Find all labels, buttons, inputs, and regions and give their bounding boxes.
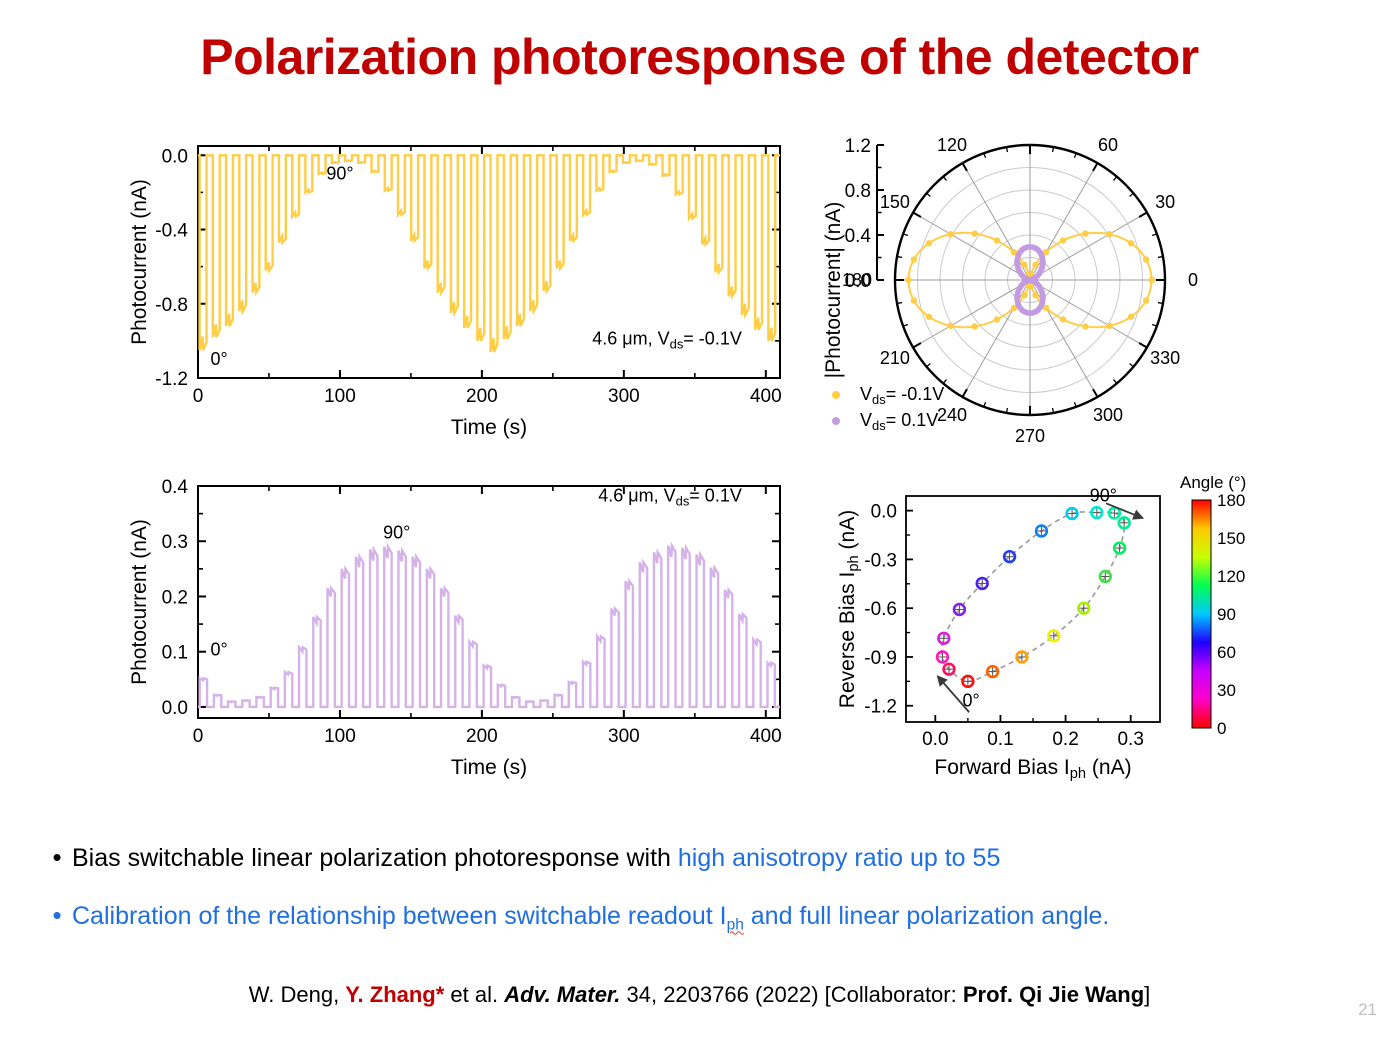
svg-text:-1.2: -1.2: [155, 369, 188, 390]
svg-text:Vds= 0.1V: Vds= 0.1V: [860, 410, 938, 433]
x-axis-label: Time (s): [451, 756, 527, 779]
svg-text:0.8: 0.8: [845, 181, 871, 202]
svg-text:330: 330: [1150, 348, 1180, 368]
svg-text:270: 270: [1015, 426, 1045, 446]
svg-text:90: 90: [1020, 132, 1040, 134]
bullet-2-subscript: ph: [727, 916, 744, 933]
svg-text:180: 180: [842, 270, 872, 290]
svg-text:100: 100: [324, 726, 356, 747]
svg-text:180: 180: [1217, 491, 1245, 510]
bullet-list: • Bias switchable linear polarization ph…: [42, 842, 1362, 967]
svg-text:0.1: 0.1: [987, 729, 1013, 750]
x-axis-tick-labels: 0100200300400: [193, 386, 782, 407]
annotation-bias: 4.6 μm, Vds= -0.1V: [592, 329, 742, 352]
svg-text:90: 90: [1217, 605, 1236, 624]
citation-author-highlight: Y. Zhang*: [345, 982, 444, 1007]
svg-text:100: 100: [324, 386, 356, 407]
svg-text:0.0: 0.0: [922, 729, 948, 750]
svg-text:0: 0: [1188, 270, 1198, 290]
colorbar-title: Angle (°): [1180, 473, 1246, 492]
svg-text:1.2: 1.2: [845, 136, 871, 157]
svg-text:210: 210: [880, 348, 910, 368]
svg-text:150: 150: [880, 192, 910, 212]
svg-text:Vds= -0.1V: Vds= -0.1V: [860, 384, 944, 407]
axes: [906, 496, 1160, 722]
svg-text:0: 0: [1217, 719, 1226, 738]
y-axis-tick-labels: 0.0-0.4-0.8-1.2: [155, 146, 188, 390]
bullet-text-1: Bias switchable linear polarization phot…: [72, 842, 1000, 874]
svg-text:0.3: 0.3: [1117, 729, 1143, 750]
svg-text:-0.8: -0.8: [155, 295, 188, 316]
photocurrent-trace: [198, 155, 780, 352]
annotation-0deg: 0°: [211, 640, 228, 660]
svg-text:0.0: 0.0: [162, 698, 188, 719]
svg-text:150: 150: [1217, 529, 1245, 548]
polar-legend: Vds= -0.1VVds= 0.1V: [832, 384, 944, 433]
bullet-marker-icon: •: [42, 842, 72, 872]
svg-text:200: 200: [466, 726, 498, 747]
colorbar: [1192, 500, 1211, 728]
svg-text:60: 60: [1217, 643, 1236, 662]
citation-part-3: 34, 2203766 (2022) [Collaborator:: [620, 982, 962, 1007]
svg-text:-0.6: -0.6: [864, 599, 897, 620]
annotation-90deg: 90°: [326, 163, 353, 183]
svg-text:0.1: 0.1: [162, 643, 188, 664]
bullet-item-1: • Bias switchable linear polarization ph…: [42, 842, 1362, 874]
annotation-0deg: 0°: [963, 691, 980, 711]
svg-text:300: 300: [608, 386, 640, 407]
slide-root: Polarization photoresponse of the detect…: [0, 0, 1399, 1039]
citation-part-1: W. Deng,: [249, 982, 346, 1007]
citation-journal: Adv. Mater.: [504, 982, 620, 1007]
y-axis-tick-labels: 0.0-0.3-0.6-0.9-1.2: [864, 502, 897, 718]
y-axis-tick-labels: 0.00.10.20.30.4: [162, 477, 189, 719]
y-axis-label: Photocurrent (nA): [128, 179, 151, 345]
svg-text:400: 400: [750, 386, 782, 407]
svg-text:240: 240: [937, 405, 967, 425]
x-axis-tick-labels: 0.00.10.20.3: [922, 729, 1144, 750]
citation-part-2: et al.: [444, 982, 504, 1007]
bullet-1-black: Bias switchable linear polarization phot…: [72, 844, 678, 872]
page-title: Polarization photoresponse of the detect…: [0, 28, 1399, 86]
svg-text:0.4: 0.4: [845, 226, 872, 247]
y-axis-label: Reverse Bias Iph (nA): [836, 510, 862, 708]
chart-polar: 0.00.40.81.2 030609012015018021024027030…: [820, 132, 1270, 452]
x-axis-label: Forward Bias Iph (nA): [934, 756, 1131, 782]
chart-bottom-right: 0.0-0.3-0.6-0.9-1.2 0.00.10.20.3 0° 90° …: [820, 472, 1290, 792]
colorbar-tick-labels: 0306090120150180: [1217, 491, 1245, 738]
svg-text:-0.3: -0.3: [864, 550, 897, 571]
bullet-2-lead: Calibration of the relationship between …: [72, 902, 727, 930]
annotation-90deg: 90°: [1090, 486, 1117, 506]
svg-text:0.0: 0.0: [162, 146, 188, 167]
svg-text:400: 400: [750, 726, 782, 747]
svg-text:300: 300: [608, 726, 640, 747]
svg-text:-0.9: -0.9: [864, 648, 897, 669]
x-axis-tick-labels: 0100200300400: [193, 726, 782, 747]
bullet-1-blue: high anisotropy ratio up to 55: [678, 844, 1000, 872]
svg-text:120: 120: [937, 135, 967, 155]
svg-text:0: 0: [193, 726, 204, 747]
svg-text:200: 200: [466, 386, 498, 407]
annotation-bias: 4.6 μm, Vds= 0.1V: [598, 485, 742, 508]
svg-text:60: 60: [1098, 135, 1118, 155]
citation-collaborator: Prof. Qi Jie Wang: [963, 982, 1144, 1007]
chart-bottom-right-svg: 0.0-0.3-0.6-0.9-1.2 0.00.10.20.3 0° 90° …: [820, 472, 1290, 792]
annotation-0deg: 0°: [211, 349, 228, 369]
y-axis-label: Photocurrent (nA): [128, 519, 151, 685]
chart-top-left: 0.0-0.4-0.8-1.2 0100200300400 0° 90° 4.6…: [120, 132, 800, 452]
annotation-90deg: 90°: [383, 522, 410, 542]
svg-text:30: 30: [1217, 681, 1236, 700]
loop-connector: [942, 512, 1125, 681]
svg-text:0: 0: [193, 386, 204, 407]
citation-footer: W. Deng, Y. Zhang* et al. Adv. Mater. 34…: [0, 982, 1399, 1008]
x-axis-label: Time (s): [451, 416, 527, 439]
bullet-marker-icon: •: [42, 900, 72, 930]
radial-axis: 0.00.40.81.2: [845, 136, 884, 292]
svg-text:300: 300: [1093, 405, 1123, 425]
svg-text:0.3: 0.3: [162, 532, 188, 553]
citation-part-4: ]: [1144, 982, 1150, 1007]
bullet-text-2: Calibration of the relationship between …: [72, 900, 1109, 941]
svg-text:0.2: 0.2: [162, 587, 188, 608]
svg-text:0.0: 0.0: [871, 502, 897, 523]
bullet-item-2: • Calibration of the relationship betwee…: [42, 900, 1362, 941]
svg-text:-0.4: -0.4: [155, 221, 188, 242]
page-number: 21: [1358, 1000, 1377, 1020]
svg-text:0.2: 0.2: [1052, 729, 1078, 750]
chart-top-left-svg: 0.0-0.4-0.8-1.2 0100200300400 0° 90° 4.6…: [120, 132, 800, 452]
chart-bottom-left: 0.00.10.20.30.4 0100200300400 0° 90° 4.6…: [120, 472, 800, 792]
svg-text:120: 120: [1217, 567, 1245, 586]
scatter-points: [937, 507, 1130, 687]
radial-axis-label: |Photocurrent| (nA): [822, 202, 845, 379]
photocurrent-trace: [198, 546, 780, 707]
svg-text:-1.2: -1.2: [864, 697, 897, 718]
chart-bottom-left-svg: 0.00.10.20.30.4 0100200300400 0° 90° 4.6…: [120, 472, 800, 792]
chart-polar-svg: 0.00.40.81.2 030609012015018021024027030…: [820, 132, 1270, 452]
bullet-2-tail: and full linear polarization angle.: [744, 902, 1110, 930]
svg-text:0.4: 0.4: [162, 477, 189, 498]
svg-text:30: 30: [1155, 192, 1175, 212]
